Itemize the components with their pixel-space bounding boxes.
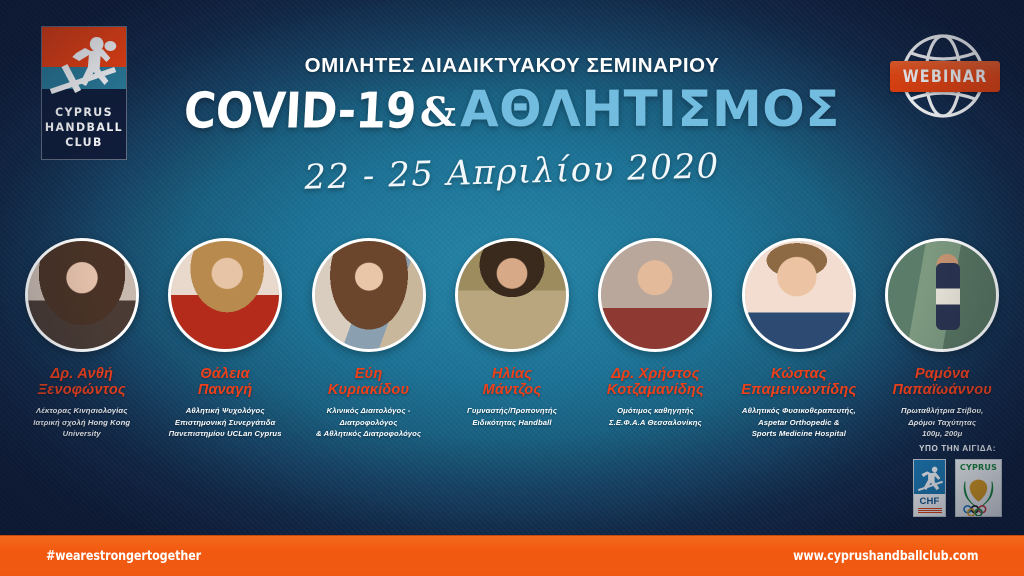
speaker-name: Κώστας Επαμεινωντίδης — [739, 366, 858, 398]
speaker-name: Δρ. Χρήστος Κοτζαμανίδης — [605, 366, 706, 398]
avatar — [168, 238, 282, 352]
logo-text-line3: CLUB — [65, 135, 103, 149]
avatar — [312, 238, 426, 352]
speaker-card: Εύη Κυριακίδου Κλινικός Διαιτολόγος - Δι… — [297, 238, 440, 439]
auspices-label: ΥΠΟ ΤΗΝ ΑΙΓΙΔΑ: — [919, 444, 996, 453]
speakers-row: Δρ. Ανθή Ξενοφώντος Λέκτορας Κινησιολογί… — [0, 238, 1024, 439]
speaker-role: Γυμναστής/Προπονητής Ειδικότητας Handbal… — [463, 405, 561, 427]
footer-hashtag: #wearestrongertogether — [46, 548, 201, 564]
speaker-role: Κλινικός Διαιτολόγος - Διατροφολόγος & Α… — [297, 405, 440, 438]
speaker-role: Αθλητικός Φυσικοθεραπευτής, Aspetar Orth… — [738, 405, 860, 438]
auspices-section: ΥΠΟ ΤΗΝ ΑΙΓΙΔΑ: CHF CYPRUS — [913, 444, 1002, 517]
speaker-name: Ραμόνα Παπαϊωάννου — [890, 366, 994, 398]
speaker-role: Αθλητική Ψυχολόγος Επιστημονική Συνεργάτ… — [165, 405, 286, 438]
avatar — [598, 238, 712, 352]
speaker-card: Θάλεια Παναγή Αθλητική Ψυχολόγος Επιστημ… — [153, 238, 296, 439]
speaker-card: Κώστας Επαμεινωντίδης Αθλητικός Φυσικοθε… — [727, 238, 870, 439]
speaker-name: Εύη Κυριακίδου — [326, 366, 411, 398]
footer-bar: #wearestrongertogether www.cyprushandbal… — [0, 535, 1024, 576]
speaker-card: Δρ. Χρήστος Κοτζαμανίδης Ομότιμος καθηγη… — [584, 238, 727, 439]
speaker-name: Ηλίας Μάντζος — [481, 366, 544, 398]
title-ampersand: & — [416, 93, 460, 133]
webinar-poster: CYPRUS HANDBALL CLUB WEBINAR ΟΜΙΛΗΤΕΣ ΔΙ… — [0, 0, 1024, 576]
chf-logo: CHF — [913, 459, 946, 517]
footer-website[interactable]: www.cyprushandballclub.com — [793, 548, 978, 564]
speaker-card: Ηλίας Μάντζος Γυμναστής/Προπονητής Ειδικ… — [440, 238, 583, 439]
speaker-role: Λέκτορας Κινησιολογίας Ιατρική σχολή Hon… — [10, 405, 153, 438]
speaker-name: Θάλεια Παναγή — [196, 366, 255, 398]
avatar — [455, 238, 569, 352]
kicker-text: ΟΜΙΛΗΤΕΣ ΔΙΑΔΙΚΤΥΑΚΟΥ ΣΕΜΙΝΑΡΙΟΥ — [0, 54, 1024, 78]
speaker-role: Πρωταθλήτρια Στίβου, Δρόμοι Ταχύτητας 10… — [897, 405, 987, 438]
cyprus-olympic-committee-logo: CYPRUS — [955, 459, 1002, 517]
speaker-card: Ραμόνα Παπαϊωάννου Πρωταθλήτρια Στίβου, … — [871, 238, 1014, 439]
avatar — [885, 238, 999, 352]
avatar — [742, 238, 856, 352]
title-sport: ΑΘΛΗΤΙΣΜΟΣ — [460, 84, 840, 134]
chf-logo-text: CHF — [919, 497, 939, 507]
title-covid: COVID-19 — [183, 87, 417, 136]
speaker-role: Ομότιμος καθηγητής Σ.Ε.Φ.Α.Α Θεσσαλονίκη… — [605, 405, 706, 427]
page-title: COVID-19&ΑΘΛΗΤΙΣΜΟΣ — [0, 84, 1024, 134]
event-dates: 22 - 25 Απριλίου 2020 — [0, 138, 1024, 207]
speaker-name: Δρ. Ανθή Ξενοφώντος — [36, 366, 128, 398]
speaker-card: Δρ. Ανθή Ξενοφώντος Λέκτορας Κινησιολογί… — [10, 238, 153, 439]
avatar — [25, 238, 139, 352]
